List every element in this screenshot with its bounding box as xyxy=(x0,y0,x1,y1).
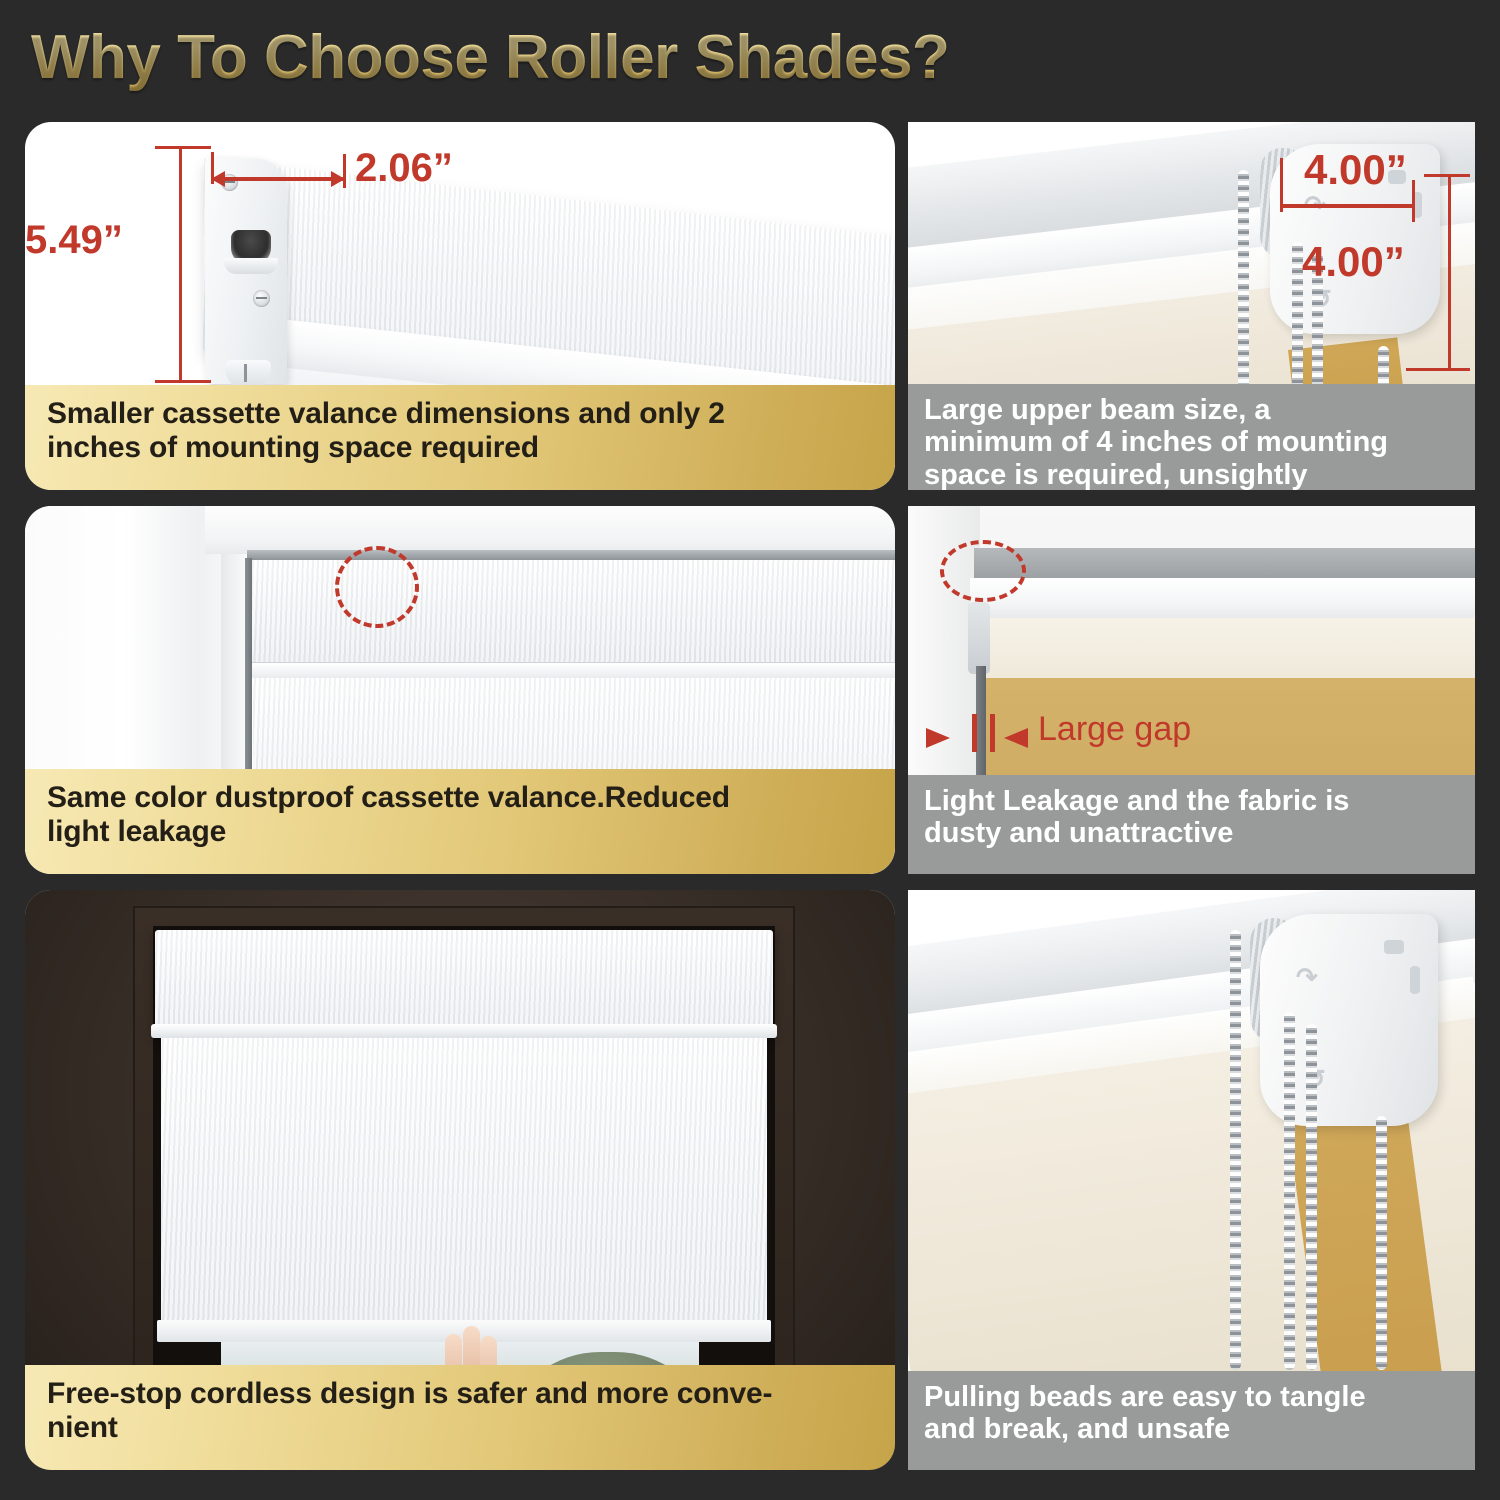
caption-line-2: dusty and unattractive xyxy=(924,817,1461,849)
beam-width-tick-right xyxy=(1412,180,1415,222)
gap-tick-2 xyxy=(990,714,995,752)
height-dimension-label: 5.49” xyxy=(25,218,123,263)
gap-highlight-circle xyxy=(940,540,1026,602)
page-title: Why To Choose Roller Shades? xyxy=(31,22,949,93)
panel-large-beam: ↷ ↺ 4.00” 4.00” Large upper beam size, a… xyxy=(908,122,1475,490)
width-dimension-label: 2.06” xyxy=(355,146,453,191)
gap-arrow-right-icon xyxy=(1004,728,1028,748)
beam-height-label: 4.00” xyxy=(1302,238,1405,286)
roller-tube-front xyxy=(970,578,1475,620)
screw-mid-icon xyxy=(253,290,270,307)
panel-cordless-design: Free-stop cordless design is safer and m… xyxy=(25,890,895,1470)
panel-pulling-beads: ↷ ↺ Pulling beads are easy to tangle and… xyxy=(908,890,1475,1470)
roller-shade-panel xyxy=(161,1038,767,1332)
height-dim-tick-bottom xyxy=(155,380,211,383)
gap-tick-1 xyxy=(972,714,977,752)
beam-width-line xyxy=(1282,204,1414,208)
bead-chain-4 xyxy=(1376,1116,1387,1370)
cassette-lip xyxy=(151,1024,777,1038)
panel-4-caption: Light Leakage and the fabric is dusty an… xyxy=(908,775,1475,874)
panel-large-gap: Large gap Light Leakage and the fabric i… xyxy=(908,506,1475,874)
caption-line-1: Large upper beam size, a xyxy=(924,394,1461,426)
caption-line-1: Smaller cassette valance dimensions and … xyxy=(47,397,875,431)
panel-6-caption: Pulling beads are easy to tangle and bre… xyxy=(908,1371,1475,1470)
caption-line-2: and break, and unsafe xyxy=(924,1413,1461,1445)
infographic-root: Why To Choose Roller Shades? 2.06” 5.49” xyxy=(0,0,1500,1500)
bead-chain-2 xyxy=(1284,1012,1295,1370)
mounting-hardware xyxy=(968,602,990,674)
caption-line-2: inches of mounting space required xyxy=(47,431,875,465)
caption-line-2: minimum of 4 inches of mounting xyxy=(924,426,1461,458)
caption-line-1: Pulling beads are easy to tangle xyxy=(924,1381,1461,1413)
gap-highlight-circle xyxy=(335,546,419,628)
height-dim-tick-top xyxy=(155,146,211,149)
window-trim-header xyxy=(205,506,895,554)
roller-tube-shadow xyxy=(974,548,1475,582)
bracket-notch-a xyxy=(1384,940,1404,954)
endcap-slot xyxy=(231,230,271,264)
panel-5-caption: Free-stop cordless design is safer and m… xyxy=(25,1365,895,1470)
bead-chain-3 xyxy=(1306,1024,1317,1370)
beam-height-line xyxy=(1448,174,1451,370)
beam-height-tick-bottom xyxy=(1406,368,1470,371)
panel-cassette-dimensions: 2.06” 5.49” Smaller cassette valance dim… xyxy=(25,122,895,490)
cream-fabric-band xyxy=(980,618,1475,680)
width-arrow-right-icon xyxy=(331,171,345,187)
panel-smaller-gap: smaller gap Same color dustproof cassett… xyxy=(25,506,895,874)
beam-width-tick-left xyxy=(1280,158,1283,212)
mid-rail xyxy=(249,662,895,678)
head-rail xyxy=(247,550,895,560)
caption-line-3: space is required, unsightly xyxy=(924,459,1461,490)
bracket-arrow-icon: ↷ xyxy=(1296,962,1318,993)
panel-2-caption: Large upper beam size, a minimum of 4 in… xyxy=(908,384,1475,490)
width-dim-line xyxy=(213,177,345,181)
panel-1-caption: Smaller cassette valance dimensions and … xyxy=(25,385,895,490)
caption-line-2: light leakage xyxy=(47,815,875,849)
beam-height-tick-top xyxy=(1424,174,1470,177)
caption-line-1: Same color dustproof cassette valance.Re… xyxy=(47,781,875,815)
caption-line-2: nient xyxy=(47,1411,875,1445)
panel-3-caption: Same color dustproof cassette valance.Re… xyxy=(25,769,895,874)
gap-arrow-left-icon xyxy=(926,728,950,748)
bracket-notch-b xyxy=(1410,966,1420,994)
caption-line-1: Light Leakage and the fabric is xyxy=(924,785,1461,817)
large-gap-label: Large gap xyxy=(1038,710,1191,749)
width-arrow-left-icon xyxy=(211,171,225,187)
caption-line-1: Free-stop cordless design is safer and m… xyxy=(47,1377,875,1411)
cassette-valance xyxy=(155,930,773,1038)
bead-chain-1 xyxy=(1230,930,1241,1370)
beam-width-label: 4.00” xyxy=(1304,146,1407,194)
height-dim-line xyxy=(179,146,182,382)
